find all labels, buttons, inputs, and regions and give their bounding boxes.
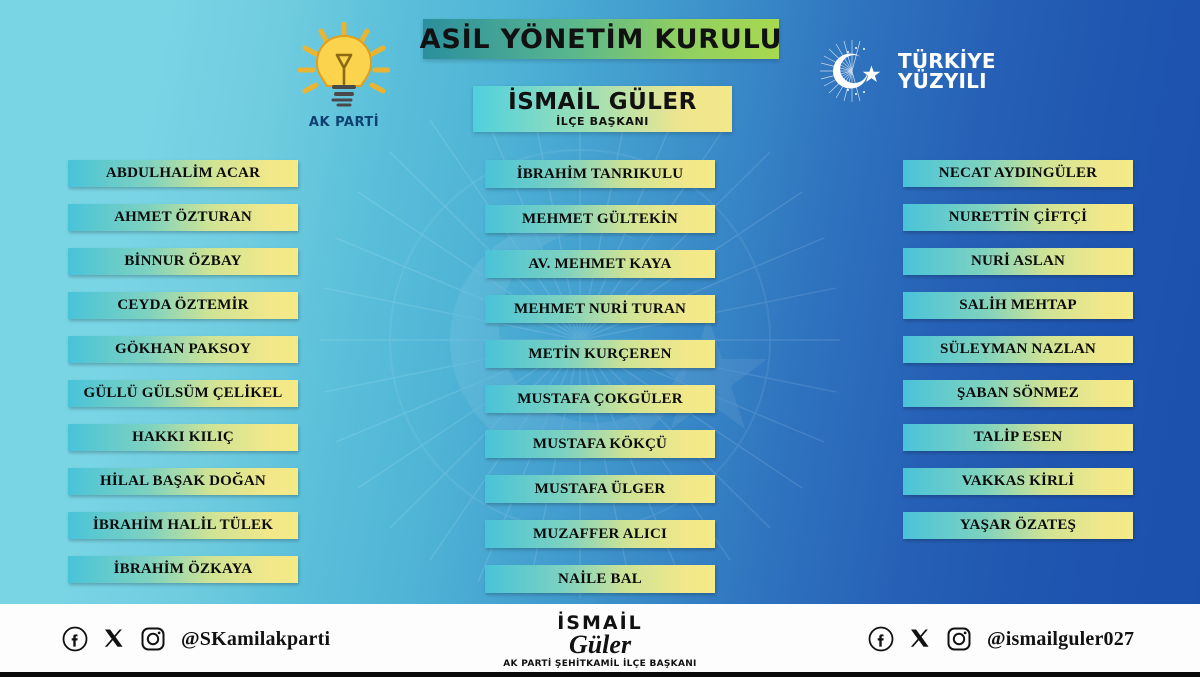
member-name: SÜLEYMAN NAZLAN [940,341,1096,358]
turkiye-yuzyili-logo: TÜRKİYE YÜZYILI [818,40,1023,102]
member-name: MEHMET GÜLTEKİN [522,211,678,228]
crescent-star-icon [818,40,890,102]
member-name: YAŞAR ÖZATEŞ [960,517,1076,534]
signature-line3: AK PARTİ ŞEHİTKAMİL İLÇE BAŞKANI [0,659,1200,669]
member-pill: NECAT AYDINGÜLER [903,160,1133,187]
member-pill: TALİP ESEN [903,424,1133,451]
member-pill: NURİ ASLAN [903,248,1133,275]
member-name: AV. MEHMET KAYA [528,256,671,273]
member-name: HAKKI KILIÇ [132,429,234,446]
member-name: ABDULHALİM ACAR [106,165,260,182]
social-handle-right[interactable]: @ismailguler027 [987,628,1134,651]
member-name: GÖKHAN PAKSOY [115,341,251,358]
member-pill: ABDULHALİM ACAR [68,160,298,187]
footer: @SKamilakparti İSMAİL Güler AK PARTİ ŞEH… [0,604,1200,677]
member-column-middle: İBRAHİM TANRIKULUMEHMET GÜLTEKİNAV. MEHM… [485,160,715,610]
member-name: GÜLLÜ GÜLSÜM ÇELİKEL [83,385,282,402]
member-name: İBRAHİM ÖZKAYA [114,561,253,578]
member-pill: METİN KURÇEREN [485,340,715,368]
leader-name: İSMAİL GÜLER [508,90,697,114]
footer-bottom-bar [0,672,1200,677]
member-pill: MEHMET NURİ TURAN [485,295,715,323]
member-pill: CEYDA ÖZTEMİR [68,292,298,319]
member-pill: MEHMET GÜLTEKİN [485,205,715,233]
leader-banner: İSMAİL GÜLER İLÇE BAŞKANI [473,86,732,132]
member-pill: SÜLEYMAN NAZLAN [903,336,1133,363]
ak-parti-label: AK PARTİ [292,115,396,130]
member-pill: MUSTAFA ÜLGER [485,475,715,503]
member-name: NAİLE BAL [558,571,642,588]
member-pill: MUZAFFER ALICI [485,520,715,548]
member-name: MEHMET NURİ TURAN [514,301,686,318]
member-pill: NURETTİN ÇİFTÇİ [903,204,1133,231]
member-pill: AV. MEHMET KAYA [485,250,715,278]
member-name: İBRAHİM TANRIKULU [517,166,684,183]
page-title: ASİL YÖNETİM KURULU [420,24,783,55]
member-pill: BİNNUR ÖZBAY [68,248,298,275]
poster-root: AK PARTİ ASİL YÖNETİM KURULU İSMAİL GÜLE… [0,0,1200,677]
member-pill: GÜLLÜ GÜLSÜM ÇELİKEL [68,380,298,407]
member-name: VAKKAS KİRLİ [962,473,1075,490]
member-pill: YAŞAR ÖZATEŞ [903,512,1133,539]
member-pill: İBRAHİM ÖZKAYA [68,556,298,583]
member-pill: VAKKAS KİRLİ [903,468,1133,495]
ty-logo-line1: TÜRKİYE [898,51,996,71]
member-name: NURİ ASLAN [971,253,1065,270]
leader-role: İLÇE BAŞKANI [556,115,649,128]
ak-parti-logo: AK PARTİ [292,22,396,134]
member-pill: İBRAHİM TANRIKULU [485,160,715,188]
member-pill: NAİLE BAL [485,565,715,593]
member-pill: HİLAL BAŞAK DOĞAN [68,468,298,495]
member-name: NURETTİN ÇİFTÇİ [949,209,1087,226]
member-name: HİLAL BAŞAK DOĞAN [100,473,266,490]
member-name: SALİH MEHTAP [959,297,1077,314]
member-name: TALİP ESEN [974,429,1063,446]
instagram-icon[interactable] [946,626,972,652]
page-title-banner: ASİL YÖNETİM KURULU [423,19,779,59]
member-pill: GÖKHAN PAKSOY [68,336,298,363]
member-name: NECAT AYDINGÜLER [939,165,1097,182]
member-name: MUZAFFER ALICI [533,526,667,543]
member-name: MUSTAFA ÇOKGÜLER [517,391,683,408]
member-pill: MUSTAFA ÇOKGÜLER [485,385,715,413]
member-name: ŞABAN SÖNMEZ [957,385,1079,402]
member-pill: İBRAHİM HALİL TÜLEK [68,512,298,539]
member-column-right: NECAT AYDINGÜLERNURETTİN ÇİFTÇİNURİ ASLA… [903,160,1133,556]
facebook-icon[interactable] [868,626,894,652]
x-twitter-icon[interactable] [907,626,933,652]
member-pill: SALİH MEHTAP [903,292,1133,319]
lightbulb-icon [298,22,390,114]
member-name: MUSTAFA ÜLGER [535,481,666,498]
member-name: İBRAHİM HALİL TÜLEK [93,517,273,534]
member-name: MUSTAFA KÖKÇÜ [533,436,667,453]
ty-logo-line2: YÜZYILI [898,71,996,91]
social-links-right: @ismailguler027 [868,626,1134,652]
member-name: BİNNUR ÖZBAY [124,253,241,270]
member-name: METİN KURÇEREN [528,346,671,363]
member-pill: ŞABAN SÖNMEZ [903,380,1133,407]
member-pill: MUSTAFA KÖKÇÜ [485,430,715,458]
member-pill: HAKKI KILIÇ [68,424,298,451]
member-name: AHMET ÖZTURAN [114,209,252,226]
member-pill: AHMET ÖZTURAN [68,204,298,231]
member-column-left: ABDULHALİM ACARAHMET ÖZTURANBİNNUR ÖZBAY… [68,160,298,600]
member-name: CEYDA ÖZTEMİR [117,297,248,314]
